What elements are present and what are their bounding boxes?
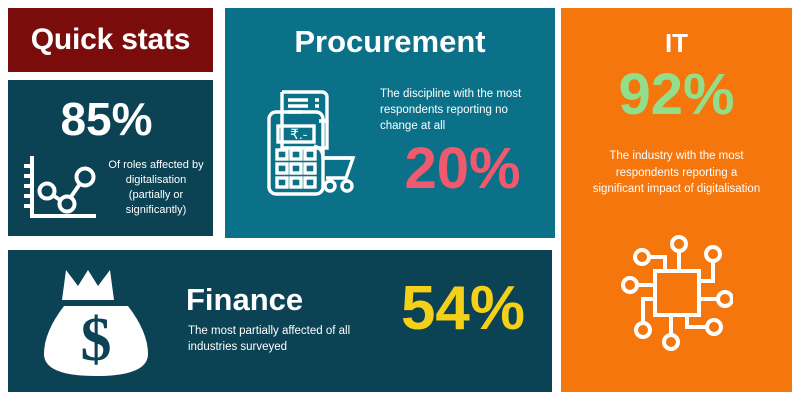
finance-title: Finance (186, 284, 303, 315)
finance-panel: $ Finance The most partially affected of… (8, 250, 552, 392)
procurement-stat-value: 20% (380, 140, 545, 198)
svg-text:$: $ (81, 306, 112, 374)
it-caption: The industry with the most respondents r… (589, 148, 764, 198)
procurement-title: Procurement (225, 26, 555, 57)
procurement-panel: Procurement (225, 8, 555, 238)
circuit-chip-icon (561, 233, 792, 355)
it-title: IT (561, 30, 792, 56)
infographic-canvas: Quick stats 85% Of roles affected by dig… (0, 0, 800, 400)
it-panel: IT 92% The industry with the most respon… (561, 8, 792, 392)
roles-caption: Of roles affected by digitalisation (par… (104, 158, 208, 217)
procurement-caption: The discipline with the most respondents… (380, 86, 530, 134)
svg-text:₹.-: ₹.- (290, 126, 308, 142)
quick-stats-header-panel: Quick stats (8, 8, 213, 72)
line-chart-icon (22, 154, 100, 231)
finance-stat-value: 54% (378, 278, 548, 340)
roles-stat-value: 85% (8, 96, 205, 142)
it-stat-value: 92% (561, 66, 792, 124)
roles-stat-panel: 85% Of roles affected by digitalisation … (8, 80, 213, 236)
page-title: Quick stats (31, 25, 191, 55)
card-payment-terminal-shopping-cart-icon: ₹.- (260, 86, 360, 203)
finance-caption: The most partially affected of all indus… (188, 323, 373, 355)
money-bag-dollar-icon: $ (40, 260, 152, 387)
